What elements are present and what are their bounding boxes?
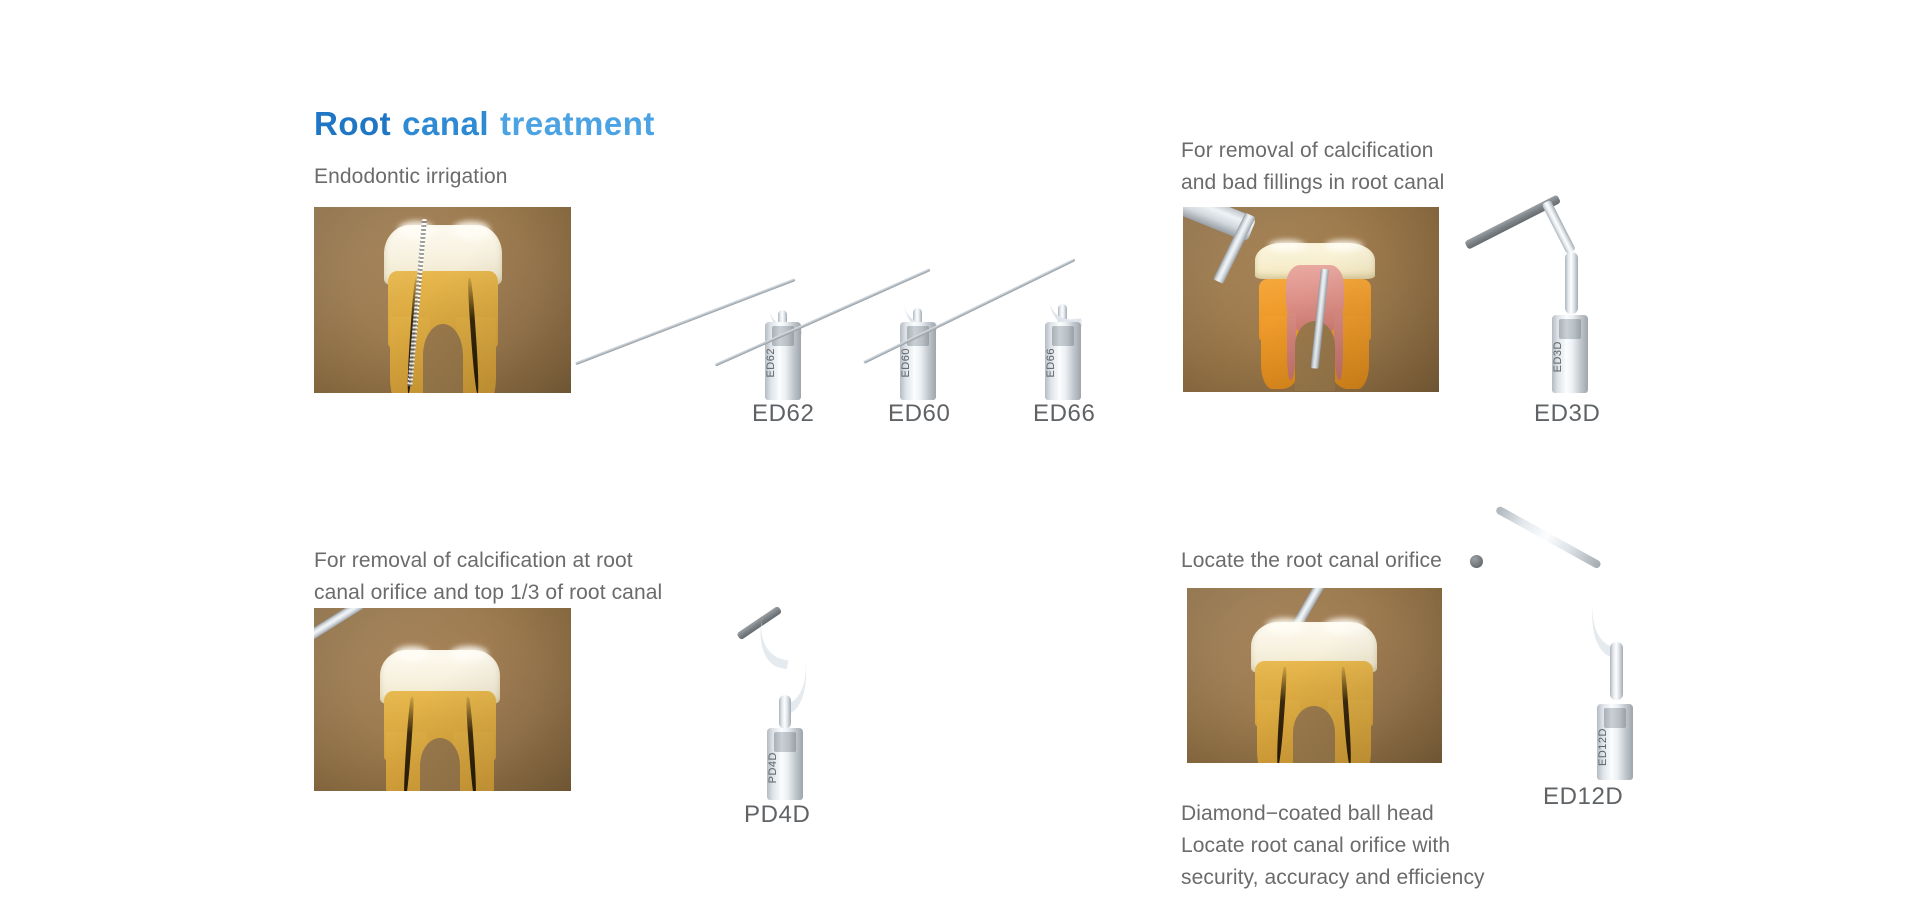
tip-label-ed62: ED62 — [752, 400, 814, 428]
pd4d-engraving: PD4D — [767, 752, 803, 783]
pd4d-neck — [779, 695, 791, 729]
ed12d-ball-head-icon — [1470, 555, 1483, 568]
section-caption-locate-root-canal-orifice: Locate the root canal orifice — [1181, 545, 1601, 577]
ed60-needle — [715, 268, 931, 366]
ed12d-neck — [1610, 642, 1623, 700]
ed12d-engraving: ED12D — [1597, 728, 1633, 766]
scaler-tip-ed12d: ED12D — [1592, 560, 1652, 780]
ed3d-lower-neck — [1565, 252, 1578, 314]
scaler-tip-ed62: ED62 — [760, 250, 820, 400]
pd4d-collar — [774, 732, 796, 752]
scaler-tip-ed66: ED66 — [1040, 250, 1100, 400]
ed62-needle — [575, 278, 795, 365]
page-title: Rootcanaltreatment — [314, 105, 655, 143]
ed12d-collar — [1604, 708, 1626, 728]
section-caption-removal-calcification-orifice: For removal of calcification at root can… — [314, 545, 784, 609]
ed3d-engraving: ED3D — [1552, 341, 1588, 372]
ed12d-bend — [1585, 587, 1632, 658]
tip-label-ed60: ED60 — [888, 400, 950, 428]
tip-label-ed3d: ED3D — [1534, 400, 1600, 428]
tooth-image-locate-root-canal-orifice — [1187, 588, 1442, 763]
title-word-2: canal — [402, 105, 489, 142]
ed62-engraving: ED62 — [765, 348, 801, 378]
section-caption-endodontic-irrigation: Endodontic irrigation — [314, 161, 734, 193]
ed66-engraving: ED66 — [1045, 348, 1081, 378]
ed3d-collar — [1559, 319, 1581, 339]
image-vignette — [1187, 588, 1442, 763]
section-note-locate-root-canal-orifice: Diamond−coated ball head Locate root can… — [1181, 798, 1611, 894]
tip-label-ed66: ED66 — [1033, 400, 1095, 428]
title-word-3: treatment — [500, 105, 655, 142]
pd4d-lower-bend — [772, 645, 813, 715]
ed3d-shank: ED3D — [1552, 315, 1588, 393]
image-vignette — [314, 608, 571, 791]
ed12d-shank: ED12D — [1597, 704, 1633, 780]
ed3d-neck — [1542, 200, 1576, 254]
tip-label-ed12d: ED12D — [1543, 783, 1623, 811]
ed60-engraving: ED60 — [900, 348, 936, 378]
tooth-image-removal-calcification-bad-fillings — [1183, 207, 1439, 392]
image-vignette — [314, 207, 571, 393]
scaler-tip-pd4d: PD4D — [762, 595, 822, 800]
scaler-tip-ed3d: ED3D — [1547, 188, 1607, 393]
ed66-collar — [1052, 326, 1074, 346]
ed66-shank: ED66 — [1045, 322, 1081, 400]
title-word-1: Root — [314, 105, 391, 142]
tooth-image-removal-calcification-orifice — [314, 608, 571, 791]
tip-label-pd4d: PD4D — [744, 801, 810, 829]
product-catalog-page: Rootcanaltreatment Endodontic irrigation… — [0, 0, 1920, 917]
tooth-image-endodontic-irrigation — [314, 207, 571, 393]
image-vignette — [1183, 207, 1439, 392]
pd4d-shank: PD4D — [767, 728, 803, 800]
scaler-tip-ed60: ED60 — [895, 250, 955, 400]
